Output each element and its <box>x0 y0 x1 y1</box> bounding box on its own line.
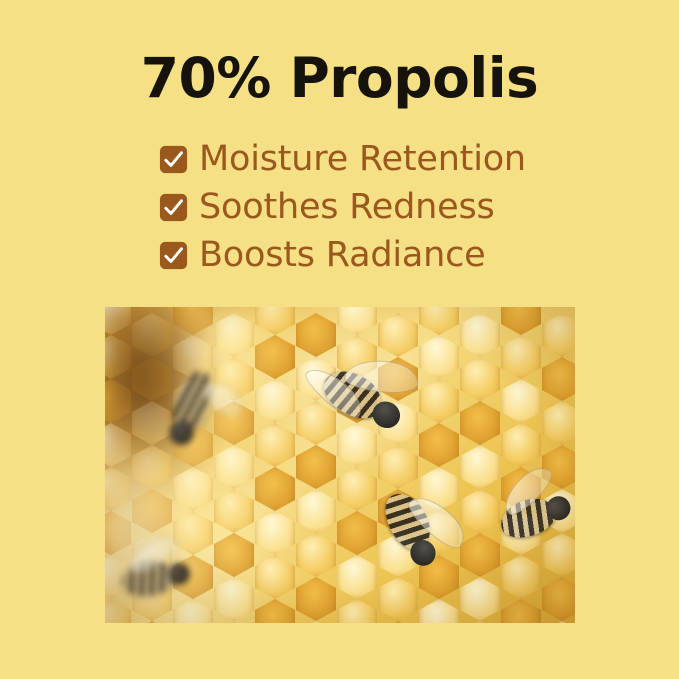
page-title: 70% Propolis <box>0 47 679 109</box>
benefits-list: Moisture Retention Soothes Redness Boost… <box>159 139 559 283</box>
list-item-label: Soothes Redness <box>199 187 495 227</box>
honeycomb-bees-photo <box>105 307 575 623</box>
list-item: Soothes Redness <box>159 187 559 227</box>
checkbox-checked-icon <box>159 193 188 222</box>
checkbox-checked-icon <box>159 241 188 270</box>
bee <box>114 537 214 623</box>
list-item-label: Moisture Retention <box>199 139 526 179</box>
propolis-promo-poster: 70% Propolis Moisture Retention Soothes … <box>0 0 679 679</box>
checkbox-checked-icon <box>159 145 188 174</box>
list-item: Moisture Retention <box>159 139 559 179</box>
list-item-label: Boosts Radiance <box>199 235 486 275</box>
list-item: Boosts Radiance <box>159 235 559 275</box>
